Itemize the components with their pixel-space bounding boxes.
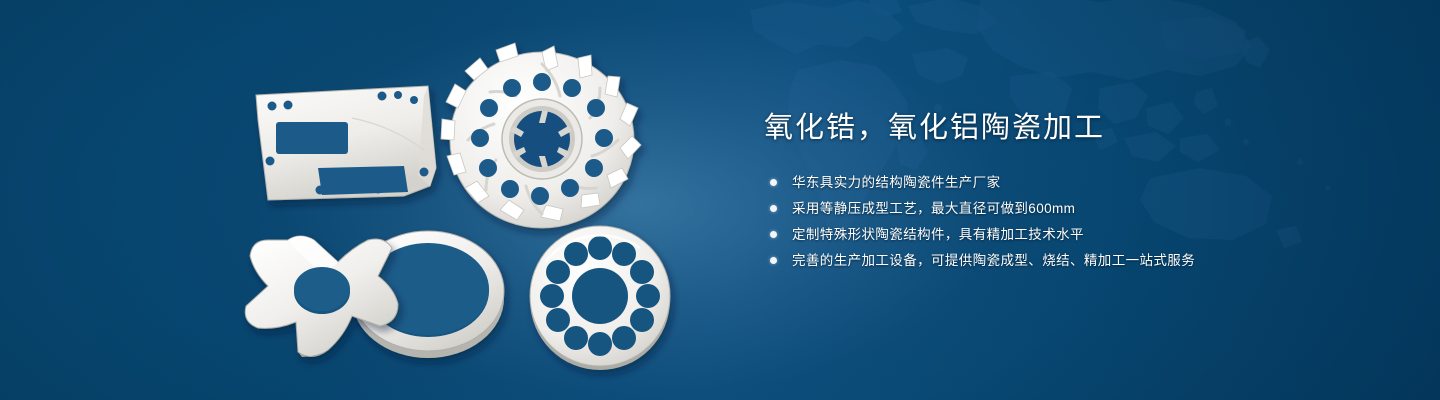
list-item-label: 采用等静压成型工艺，最大直径可做到600mm — [792, 201, 1075, 216]
list-item-label: 定制特殊形状陶瓷结构件，具有精加工技术水平 — [792, 227, 1084, 242]
page-title: 氧化锆，氧化铝陶瓷加工 — [764, 108, 1364, 148]
list-item: 完善的生产加工设备，可提供陶瓷成型、烧结、精加工一站式服务 — [770, 252, 1364, 269]
feature-list: 华东具实力的结构陶瓷件生产厂家 采用等静压成型工艺，最大直径可做到600mm 定… — [770, 174, 1364, 269]
bullet-dot-icon — [770, 205, 777, 212]
bullet-dot-icon — [770, 179, 777, 186]
banner-copy: 氧化锆，氧化铝陶瓷加工 华东具实力的结构陶瓷件生产厂家 采用等静压成型工艺，最大… — [764, 108, 1364, 278]
list-item: 定制特殊形状陶瓷结构件，具有精加工技术水平 — [770, 226, 1364, 243]
ceramic-plate — [256, 86, 436, 200]
hero-banner: 氧化锆，氧化铝陶瓷加工 华东具实力的结构陶瓷件生产厂家 采用等静压成型工艺，最大… — [0, 0, 1440, 400]
ceramic-perforated-disc — [530, 226, 670, 370]
ceramic-impeller — [441, 43, 641, 228]
product-image-group — [0, 0, 760, 400]
bullet-dot-icon — [770, 231, 777, 238]
bullet-dot-icon — [770, 257, 777, 264]
list-item: 华东具实力的结构陶瓷件生产厂家 — [770, 174, 1364, 191]
list-item-label: 华东具实力的结构陶瓷件生产厂家 — [792, 175, 1001, 190]
list-item: 采用等静压成型工艺，最大直径可做到600mm — [770, 200, 1364, 217]
list-item-label: 完善的生产加工设备，可提供陶瓷成型、烧结、精加工一站式服务 — [792, 253, 1195, 268]
